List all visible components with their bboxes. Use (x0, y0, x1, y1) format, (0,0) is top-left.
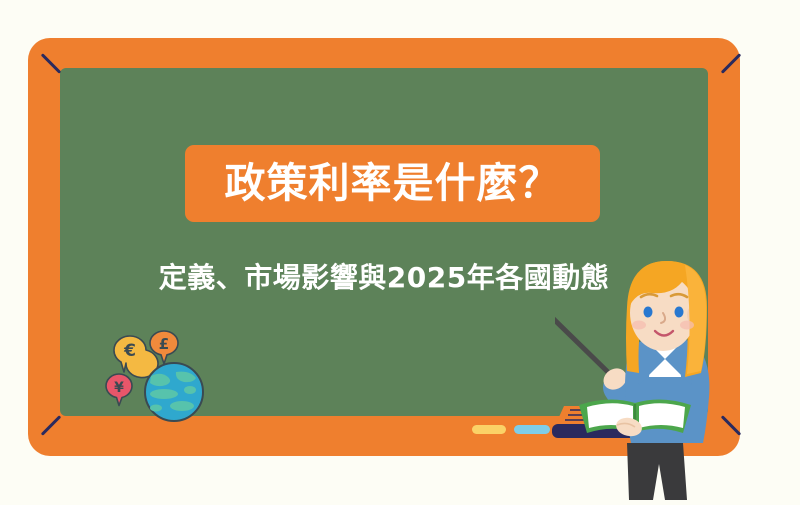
yellow-chalk-icon (472, 425, 506, 434)
eye-left (644, 307, 653, 318)
globe-currency-illustration: € £ ¥ (104, 330, 214, 430)
yen-bubble-icon: ¥ (106, 374, 132, 406)
svg-text:¥: ¥ (114, 380, 124, 396)
svg-text:€: € (123, 341, 136, 361)
svg-text:£: £ (159, 335, 169, 353)
page-title: 政策利率是什麼？ (225, 163, 561, 204)
pointer-stick-icon (555, 293, 613, 377)
poster-canvas: 政策利率是什麼？ 定義、市場影響與2025年各國動態 € £ ¥ (0, 0, 800, 500)
teacher-illustration (555, 255, 755, 500)
blue-chalk-icon (514, 425, 550, 434)
headline-banner: 政策利率是什麼？ (185, 145, 600, 222)
eye-right (675, 307, 684, 318)
globe-icon (145, 363, 203, 421)
